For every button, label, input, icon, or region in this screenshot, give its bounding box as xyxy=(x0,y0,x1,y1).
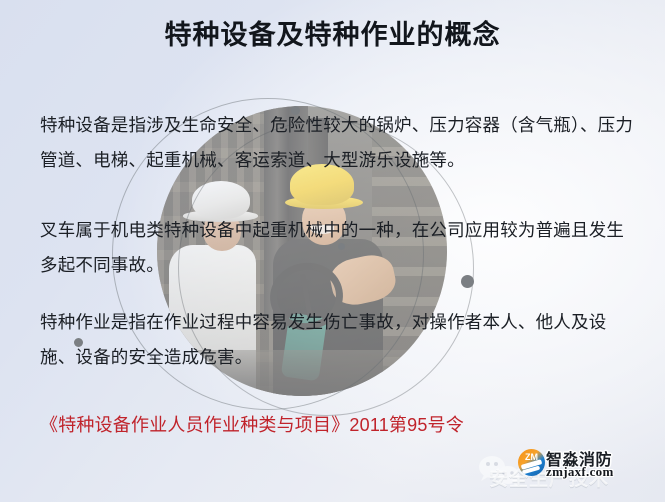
watermark: 安全生产技术 ZM 智淼消防 zmjaxf.com xyxy=(477,446,657,498)
regulation-reference: 《特种设备作业人员作业种类与项目》2011第95号令 xyxy=(40,411,464,439)
body-paragraph-2: 叉车属于机电类特种设备中起重机械中的一种，在公司应用较为普遍且发生多起不同事故。 xyxy=(40,213,636,283)
slide-title: 特种设备及特种作业的概念 xyxy=(0,18,665,52)
brand-url: zmjaxf.com xyxy=(546,464,614,480)
brand-logo-icon: ZM xyxy=(518,449,545,476)
body-paragraph-1: 特种设备是指涉及生命安全、危险性较大的锅炉、压力容器（含气瓶）、压力管道、电梯、… xyxy=(40,108,636,178)
body-paragraph-3: 特种作业是指在作业过程中容易发生伤亡事故，对操作者本人、他人及设施、设备的安全造… xyxy=(40,305,636,375)
slide-canvas: 特种设备及特种作业的概念 特种设备是指涉及生命安全、危险性较大的锅炉、压力容器（… xyxy=(0,0,665,502)
